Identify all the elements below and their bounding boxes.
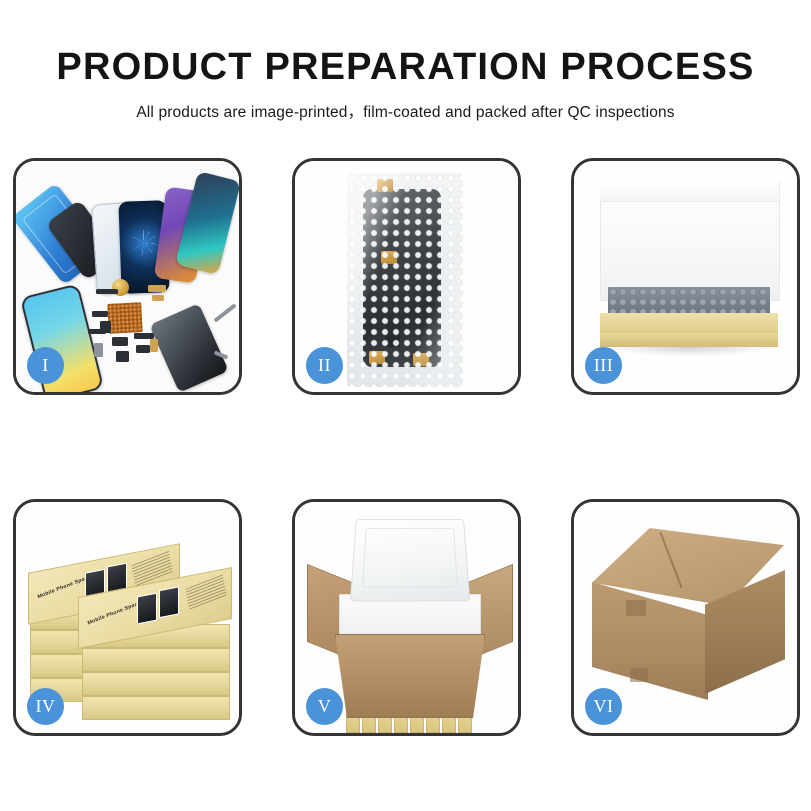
small-part bbox=[94, 343, 103, 357]
stacked-box-edge bbox=[82, 648, 230, 672]
connector-chip-grid bbox=[107, 302, 143, 334]
stacked-box-edge bbox=[82, 696, 230, 720]
carton-tape-patch bbox=[630, 668, 648, 682]
step-badge-6: VI bbox=[585, 688, 622, 725]
process-step-panel-3: III Bubble-wrapped screen placed in kraf… bbox=[571, 158, 800, 395]
small-part bbox=[150, 339, 158, 352]
box-screen-image bbox=[137, 593, 157, 625]
small-part bbox=[92, 311, 108, 317]
carton-body bbox=[335, 634, 485, 718]
box-spec-text bbox=[185, 574, 226, 609]
plastic-sheen bbox=[347, 173, 463, 387]
small-part bbox=[112, 337, 128, 346]
step-badge-3: III bbox=[585, 347, 622, 384]
page-title: PRODUCT PREPARATION PROCESS bbox=[0, 0, 811, 88]
carton-tape-patch bbox=[626, 600, 646, 616]
process-step-grid: I Mobile phone screens and spare parts l… bbox=[13, 158, 798, 736]
step-badge-5: V bbox=[306, 688, 343, 725]
process-step-panel-2: II LCD screen assembly sealed in bubble … bbox=[292, 158, 521, 395]
page-subtitle: All products are image-printed，film-coat… bbox=[0, 88, 811, 122]
small-part bbox=[148, 285, 166, 292]
step-badge-1: I bbox=[27, 347, 64, 384]
process-step-panel-4: Mobile Phone Spare Parts Mobile Phone Sp… bbox=[13, 499, 242, 736]
small-part bbox=[88, 329, 106, 334]
kraft-box-front bbox=[600, 333, 778, 347]
header: PRODUCT PREPARATION PROCESS All products… bbox=[0, 0, 811, 140]
stacked-box-edge bbox=[82, 672, 230, 696]
process-step-panel-1: I Mobile phone screens and spare parts l… bbox=[13, 158, 242, 395]
process-step-panel-5: V Boxes packed into foam-lined export ca… bbox=[292, 499, 521, 736]
small-part bbox=[96, 289, 118, 294]
small-part bbox=[116, 351, 129, 362]
bubble-wrap-bag bbox=[347, 173, 463, 387]
process-step-panel-6: VI Sealed cardboard shipping carton read… bbox=[571, 499, 800, 736]
box-screen-image bbox=[159, 586, 179, 618]
lid-fold bbox=[600, 181, 778, 202]
small-part bbox=[136, 345, 150, 353]
box-shadow bbox=[608, 347, 770, 356]
foam-lid bbox=[350, 519, 471, 601]
step-badge-4: IV bbox=[27, 688, 64, 725]
small-part bbox=[152, 295, 164, 301]
step-badge-2: II bbox=[306, 347, 343, 384]
